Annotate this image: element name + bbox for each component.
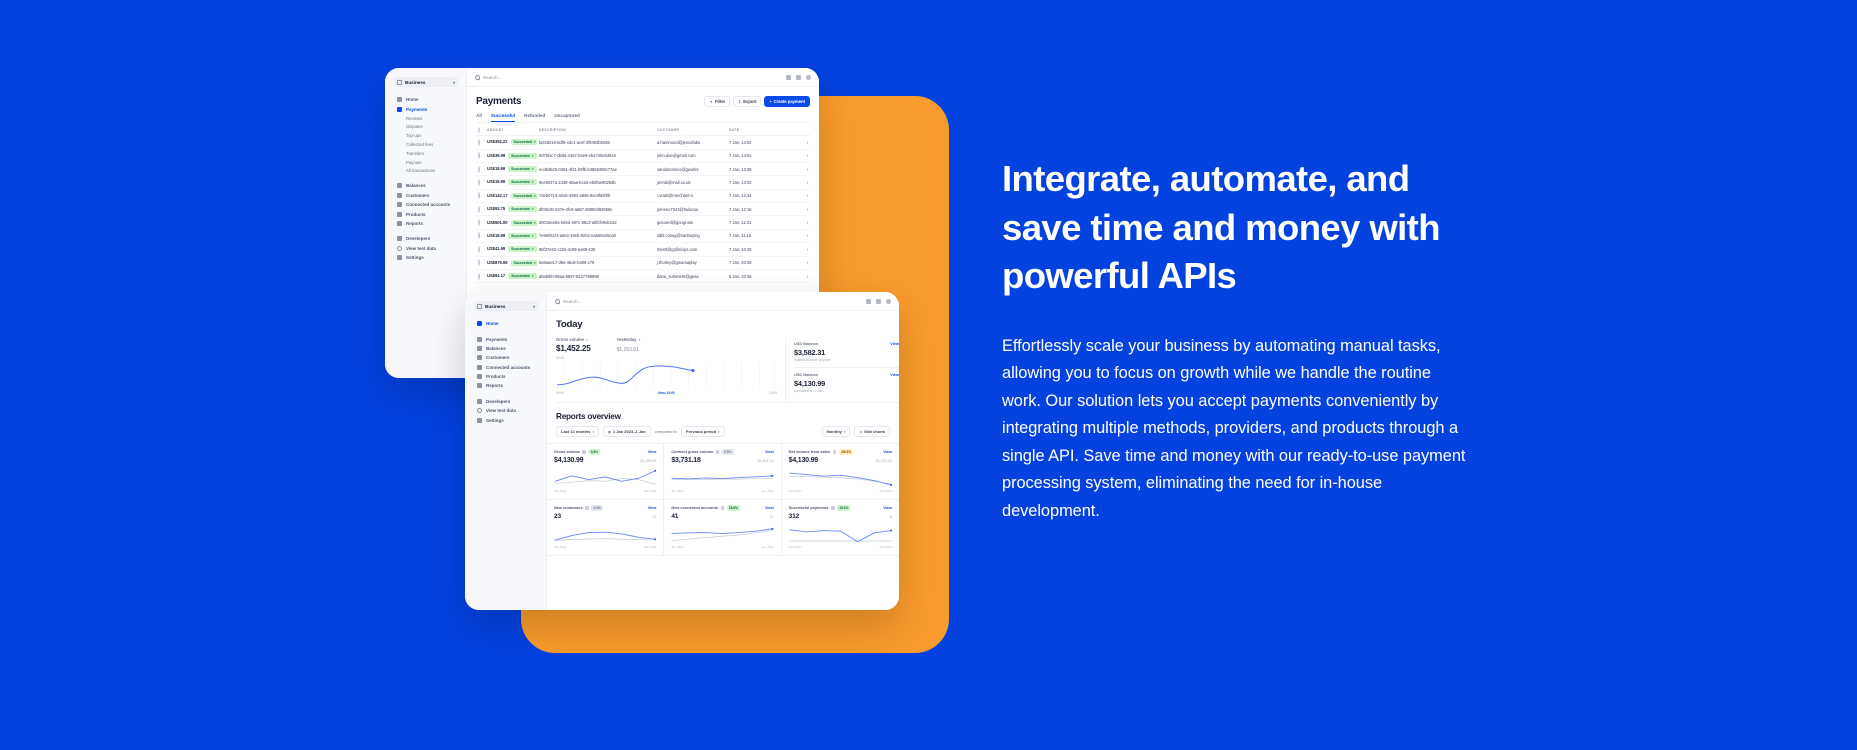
gross-volume-chart [556, 360, 777, 390]
sidebar-item-label: Payments [486, 337, 507, 342]
axis-left-label: Jan 2022 [671, 545, 683, 549]
compare-period-select[interactable]: Previous period ▾ [681, 426, 725, 437]
sidebar-item-label: View test data [486, 408, 516, 413]
chevron-down-icon: ▾ [533, 304, 535, 309]
filter-icon: ▼ [709, 100, 713, 104]
row-chevron-icon[interactable]: › [761, 216, 810, 229]
sidebar-item-balances[interactable]: Balances [394, 181, 458, 190]
cell-date: 7 Jan, 14:01 [727, 149, 761, 162]
cell-description: fa3c8216-5df9-4dc1-acef-2f9463b5256 [537, 136, 655, 149]
cell-date: 7 Jan, 14:04 [727, 136, 761, 149]
sidebar-item-label: Customers [486, 355, 510, 360]
customers-icon [397, 193, 402, 198]
sidebar-item-label: Balances [486, 346, 506, 351]
info-icon[interactable] [721, 506, 725, 510]
status-badge: Succeeded✓ [511, 260, 538, 266]
cell-amount: US$352.22Succeeded✓ [485, 136, 537, 149]
sidebar-item-topups[interactable]: Top-ups [394, 131, 458, 140]
report-card[interactable]: Successful payments19.4%View3128Jan 2022… [782, 500, 899, 556]
account-name: Business [405, 80, 425, 85]
help-icon[interactable] [796, 75, 801, 80]
sidebar-item-label: Payments [406, 107, 427, 112]
row-checkbox-cell[interactable] [476, 203, 485, 216]
report-compare-value: 12 [652, 515, 656, 519]
sidebar-item-connected-accounts[interactable]: Connected accounts [394, 200, 458, 209]
cell-amount: US$19.99Succeeded✓ [485, 176, 537, 189]
table-row[interactable]: US$142.17Succeeded✓73eb0713-a026-4983-a8… [476, 189, 810, 202]
cell-description: d9ab9fn-9baa-8937-8127769898 [537, 269, 655, 282]
status-badge: Succeeded✓ [508, 153, 537, 159]
gross-volume-panel: Gross volume ▾ $1,452.25 Yesterday ▾ [556, 337, 785, 402]
status-badge: Succeeded✓ [511, 220, 538, 226]
cell-description: 7e96051f4-a0e3-49eb-9252-eab59425ca0 [537, 229, 655, 242]
sidebar-item-label: Home [406, 97, 419, 102]
cell-date: 7 Jan, 11:16 [727, 229, 761, 242]
reports-grid: Gross volume3.3%View$4,130.99$1,253.92Ja… [547, 443, 899, 556]
cell-customer: r.vrabi@merchant-s [655, 189, 727, 202]
sidebar-item-label: Settings [406, 255, 424, 260]
row-checkbox-cell[interactable] [476, 176, 485, 189]
row-checkbox-cell[interactable] [476, 149, 485, 162]
cell-date: 7 Jan, 11:31 [727, 216, 761, 229]
status-badge: Succeeded✓ [508, 179, 537, 185]
report-value: 41 [671, 513, 678, 520]
status-badge: Succeeded✓ [511, 193, 538, 199]
cell-customer: j.thorley@gmarsaplay [655, 256, 727, 269]
table-row[interactable]: US$19.99Succeeded✓9ce9027a-2439-40aa-bca… [476, 176, 810, 189]
axis-right-label: Jan 2023 [761, 545, 773, 549]
report-value: $4,130.99 [789, 457, 818, 464]
account-name: Business [485, 304, 505, 309]
axis-right-label: Jan 2023 [644, 489, 656, 493]
info-icon[interactable] [716, 450, 720, 454]
balance-value: $4,130.99 [794, 379, 899, 388]
row-checkbox-cell[interactable] [476, 162, 485, 175]
change-badge: 18.6% [727, 505, 740, 511]
axis-left-label: Jan 2022 [671, 489, 683, 493]
sidebar-item-payments[interactable]: Payments [474, 334, 538, 343]
change-badge: 3.3% [589, 449, 601, 455]
nav-secondary-group: Payments Balances Customers Connected ac… [474, 334, 538, 390]
nav-tertiary-group: Developers View test data Settings [394, 234, 458, 262]
cell-customer: john.doe@gmail.com [655, 149, 727, 162]
cell-description: 5a9aae17-d9a-46de-b308-c78 [537, 256, 655, 269]
topbar-icons [866, 299, 891, 304]
cell-date: 7 Jan, 10:46 [727, 243, 761, 256]
cell-customer: a.hammond@jescofabs [655, 136, 727, 149]
export-icon: ↧ [738, 100, 741, 104]
reports-overview-title: Reports overview [556, 412, 890, 421]
sidebar-item-products[interactable]: Products [394, 209, 458, 218]
marketing-copy: Integrate, automate, and save time and m… [1002, 155, 1472, 526]
chart-axis-bottom: 00:00 Now, 13:00 23:59 [556, 391, 777, 395]
sidebar-item-label: Home [486, 321, 499, 326]
table-row[interactable]: US$501.00Succeeded✓30016eeba-5d4d-487c-8… [476, 216, 810, 229]
axis-left-label: Jan 2022 [789, 545, 801, 549]
page-title: Today [556, 319, 890, 330]
nav-primary-group: Home [474, 319, 538, 328]
info-icon[interactable] [833, 450, 837, 454]
report-compare-value: $1,253.92 [640, 459, 656, 463]
yesterday-value: $1,253.61 [617, 347, 641, 353]
card-icon [397, 107, 402, 112]
checkbox-icon[interactable] [478, 192, 480, 199]
checkbox-icon[interactable] [478, 246, 480, 253]
cell-description: 0d7bfac7-dbda-4157-bae9-eb4740e53815 [537, 149, 655, 162]
cell-customer: sandomenico@gworks [655, 162, 727, 175]
table-row[interactable]: US$19.99Succeeded✓7e96051f4-a0e3-49eb-92… [476, 229, 810, 242]
report-sparkline [671, 523, 773, 544]
account-switcher[interactable]: Business ▾ [474, 301, 538, 311]
sidebar-item-products[interactable]: Products [474, 372, 538, 381]
checkbox-icon[interactable] [478, 127, 480, 133]
reports-icon [477, 383, 482, 388]
row-chevron-icon[interactable]: › [761, 203, 810, 216]
report-sparkline [789, 467, 892, 488]
home-icon [477, 321, 482, 326]
compared-to-label: compared to [655, 429, 677, 434]
search-placeholder: Search... [483, 75, 501, 80]
table-row[interactable]: US$352.22Succeeded✓fa3c8216-5df9-4dc1-ac… [476, 136, 810, 149]
customers-icon [477, 355, 482, 360]
plus-icon: + [769, 100, 771, 104]
sidebar-item-reports[interactable]: Reports [394, 219, 458, 228]
filter-button[interactable]: ▼ Filter [704, 96, 730, 107]
sidebar-item-transfers[interactable]: Transfers [394, 149, 458, 158]
row-checkbox-cell[interactable] [476, 229, 485, 242]
sidebar-item-label: View test data [406, 246, 436, 251]
building-icon [397, 80, 402, 85]
notifications-icon[interactable] [866, 299, 871, 304]
sidebar-item-reviews[interactable]: Reviews [394, 114, 458, 123]
balance-block-deposited: USD Balance View $4,130.99 Deposited on … [794, 367, 899, 398]
sidebar-item-label: Connected accounts [486, 365, 530, 370]
sidebar-item-disputes[interactable]: Disputes [394, 123, 458, 132]
view-link[interactable]: View [890, 372, 899, 377]
row-checkbox-cell[interactable] [476, 256, 485, 269]
avatar[interactable] [886, 299, 891, 304]
row-chevron-icon[interactable]: › [761, 243, 810, 256]
report-card[interactable]: New connected accounts18.6%View4127Jan 2… [664, 500, 781, 556]
gear-icon [477, 418, 482, 423]
report-value: $4,130.99 [554, 457, 583, 464]
cell-amount: US$41.99Succeeded✓ [485, 243, 537, 256]
axis-now-label: Now, 13:00 [658, 391, 675, 395]
report-value: 23 [554, 513, 561, 520]
today-dashboard-card: Business ▾ Home Payments [465, 292, 899, 610]
axis-right-label: Jan 2023 [644, 545, 656, 549]
report-card[interactable]: Gross volume3.3%View$4,130.99$1,253.92Ja… [547, 444, 664, 500]
column-description: DESCRIPTION [537, 124, 655, 135]
balance-value: $3,582.31 [794, 348, 899, 357]
tab-all[interactable]: All [476, 113, 482, 122]
calendar-icon: ▦ [608, 430, 611, 434]
cell-date: 7 Jan, 12:16 [727, 203, 761, 216]
cell-description: df03e3b-027e-4fc9-a587-30950d82868e [537, 203, 655, 216]
report-card[interactable]: Connect gross volume0.0%View$3,731.18$3,… [664, 444, 781, 500]
payments-table: AMOUNT DESCRIPTION CUSTOMER DATE US$352.… [476, 124, 810, 283]
cell-amount: US$19.99Succeeded✓ [485, 162, 537, 175]
sidebar-item-home[interactable]: Home [474, 319, 538, 328]
row-chevron-icon[interactable]: › [761, 149, 810, 162]
view-link[interactable]: View [648, 506, 657, 510]
column-date: DATE [727, 124, 761, 135]
row-checkbox-cell[interactable] [476, 216, 485, 229]
sidebar-item-label: Reports [486, 383, 503, 388]
row-checkbox-cell[interactable] [476, 243, 485, 256]
search-input[interactable]: Search... [555, 299, 581, 304]
cell-description: 88f37e53-c2b2-4c09-aa89-438 [537, 243, 655, 256]
sidebar-item-payments[interactable]: Payments [394, 104, 458, 113]
sidebar-item-label: Reports [406, 221, 423, 226]
axis-right-label: Jan 2023 [880, 545, 892, 549]
balance-icon [397, 183, 402, 188]
info-icon[interactable] [582, 450, 586, 454]
cell-amount: US$879.98Succeeded✓ [485, 256, 537, 269]
sidebar-item-view-test-data[interactable]: View test data [394, 243, 458, 252]
report-sparkline [789, 523, 892, 544]
sidebar-item-customers[interactable]: Customers [394, 191, 458, 200]
row-chevron-icon[interactable]: › [761, 176, 810, 189]
row-chevron-icon[interactable]: › [761, 256, 810, 269]
sidebar-item-label: Connected accounts [406, 202, 450, 207]
cell-description: ecd64b25-0304-4f31-b9fb-b4859468c77ae [537, 162, 655, 175]
checkbox-icon[interactable] [478, 219, 480, 226]
search-input[interactable]: Search... [475, 75, 501, 80]
row-checkbox-cell[interactable] [476, 269, 485, 282]
sidebar-item-balances[interactable]: Balances [474, 344, 538, 353]
products-icon [397, 212, 402, 217]
checkbox-icon[interactable] [478, 166, 480, 173]
sidebar-item-settings[interactable]: Settings [394, 253, 458, 262]
date-range-select[interactable]: Last 12 months ▾ [556, 426, 599, 437]
row-chevron-icon[interactable]: › [761, 269, 810, 282]
table-row[interactable]: US$39.99Succeeded✓0d7bfac7-dbda-4157-bae… [476, 149, 810, 162]
today-topbar: Search... [547, 292, 899, 311]
nav-secondary-group: Balances Customers Connected accounts Pr… [394, 181, 458, 228]
today-sidebar: Business ▾ Home Payments [465, 292, 547, 610]
axis-left-label: Jan 2022 [554, 545, 566, 549]
cell-amount: US$142.17Succeeded✓ [485, 189, 537, 202]
change-badge: 0.0% [722, 449, 734, 455]
balance-label: USD Balance [794, 372, 818, 377]
report-sparkline [554, 467, 656, 488]
cell-customer: sdkl.conug@rianbuying [655, 229, 727, 242]
sidebar-item-label: Developers [406, 236, 430, 241]
yesterday-label[interactable]: Yesterday ▾ [617, 337, 641, 342]
tab-refunded[interactable]: Refunded [524, 113, 545, 122]
sidebar-item-home[interactable]: Home [394, 95, 458, 104]
sidebar-item-payouts[interactable]: Payouts [394, 158, 458, 167]
chevron-down-icon: ▾ [844, 430, 846, 434]
interval-select[interactable]: Monthly ▾ [822, 426, 851, 437]
sidebar-item-view-test-data[interactable]: View test data [474, 406, 538, 415]
table-row[interactable]: US$19.99Succeeded✓ecd64b25-0304-4f31-b9f… [476, 162, 810, 175]
sidebar-item-collected-fees[interactable]: Collected fees [394, 140, 458, 149]
report-sparkline [554, 523, 656, 544]
chevron-down-icon: ▾ [638, 338, 640, 342]
info-icon[interactable] [831, 506, 835, 510]
report-card[interactable]: New customers0.0%View2312Jan 2022Jan 202… [547, 500, 664, 556]
checkbox-icon[interactable] [478, 273, 480, 280]
connected-icon [477, 365, 482, 370]
cell-date: 7 Jan, 20:36 [727, 256, 761, 269]
chevron-down-icon: ▾ [586, 338, 588, 342]
cell-description: 9ce9027a-2439-40aa-bca3-eb9fae9829db [537, 176, 655, 189]
cell-customer: dana_summer5@gesa [655, 269, 727, 282]
report-card[interactable]: Net volume from sales-60.3%View$4,130.99… [782, 444, 899, 500]
table-row[interactable]: US$41.99Succeeded✓88f37e53-c2b2-4c09-aa8… [476, 243, 810, 256]
balance-sub: Estimated future payouts [794, 358, 899, 362]
table-row[interactable]: US$91.17Succeeded✓d9ab9fn-9baa-8937-8127… [476, 269, 810, 282]
row-chevron-icon[interactable]: › [761, 162, 810, 175]
search-placeholder: Search... [563, 299, 581, 304]
cell-amount: US$39.99Succeeded✓ [485, 149, 537, 162]
view-link[interactable]: View [765, 450, 774, 454]
row-chevron-icon[interactable]: › [761, 189, 810, 202]
column-customer: CUSTOMER [655, 124, 727, 135]
status-badge: Succeeded✓ [508, 166, 537, 172]
developers-icon [397, 236, 402, 241]
tab-uncaptured[interactable]: Uncaptured [554, 113, 580, 122]
page-body-text: Effortlessly scale your business by auto… [1002, 333, 1472, 526]
sidebar-item-connected-accounts[interactable]: Connected accounts [474, 363, 538, 372]
checkbox-icon[interactable] [478, 259, 480, 266]
export-button[interactable]: ↧ Export [733, 96, 761, 107]
cell-date: 5 Jan, 20:36 [727, 269, 761, 282]
gear-icon [397, 255, 402, 260]
view-link[interactable]: View [883, 506, 892, 510]
sidebar-item-label: Balances [406, 183, 426, 188]
products-icon [477, 374, 482, 379]
payments-sidebar: Business ▾ Home Payments Reviews Dispute… [385, 68, 467, 378]
tab-successful[interactable]: Successful [491, 113, 515, 122]
cell-amount: US$91.17Succeeded✓ [485, 269, 537, 282]
payments-topbar: Search... [467, 68, 819, 87]
create-payment-button[interactable]: + Create payment [764, 96, 810, 107]
view-link[interactable]: View [890, 341, 899, 346]
help-icon[interactable] [876, 299, 881, 304]
filter-label: Filter [715, 99, 725, 104]
table-row[interactable]: US$879.98Succeeded✓5a9aae17-d9a-46de-b30… [476, 256, 810, 269]
sidebar-item-label: Developers [486, 399, 510, 404]
report-value: $3,731.18 [671, 457, 700, 464]
axis-right-label: 23:59 [769, 391, 777, 395]
info-icon[interactable] [585, 506, 589, 510]
notifications-icon[interactable] [786, 75, 791, 80]
page-title: Payments [476, 96, 521, 107]
cell-date: 7 Jan, 13:02 [727, 176, 761, 189]
balance-sub: Deposited on 1 Jan [794, 389, 899, 393]
report-compare-value: 8 [890, 515, 892, 519]
toggle-icon [397, 246, 402, 251]
sidebar-item-label: Settings [486, 418, 504, 423]
row-checkbox-cell[interactable] [476, 136, 485, 149]
report-sparkline [671, 467, 773, 488]
axis-right-label: Jan 2023 [880, 489, 892, 493]
checkbox-icon[interactable] [478, 179, 480, 186]
account-switcher[interactable]: Business ▾ [394, 77, 458, 87]
toggle-icon [477, 408, 482, 413]
table-header-row: AMOUNT DESCRIPTION CUSTOMER DATE [476, 124, 810, 135]
sidebar-item-label: Products [486, 374, 506, 379]
select-all-checkbox-cell[interactable] [476, 124, 485, 135]
payments-tabs: All Successful Refunded Uncaptured [476, 113, 810, 123]
sidebar-item-all-transactions[interactable]: All transactions [394, 166, 458, 175]
checkbox-icon[interactable] [478, 152, 480, 159]
search-icon [555, 299, 560, 304]
status-badge: Succeeded✓ [508, 246, 537, 252]
building-icon [477, 304, 482, 309]
change-badge: 0.0% [591, 505, 603, 511]
sidebar-item-customers[interactable]: Customers [474, 353, 538, 362]
table-row[interactable]: US$93.75Succeeded✓df03e3b-027e-4fc9-a587… [476, 203, 810, 216]
date-picker[interactable]: ▦ 1 Jan 2023–1 Jan [603, 426, 651, 437]
report-compare-value: 27 [770, 515, 774, 519]
sidebar-item-settings[interactable]: Settings [474, 415, 538, 424]
reports-icon [397, 221, 402, 226]
cell-customer: gesoerd@googl.win [655, 216, 727, 229]
gear-icon: ⚙ [859, 430, 862, 434]
checkbox-icon[interactable] [478, 139, 480, 146]
status-badge: Succeeded✓ [508, 206, 537, 212]
chevron-down-icon: ▾ [592, 430, 594, 434]
view-link[interactable]: View [765, 506, 774, 510]
page-headline: Integrate, automate, and save time and m… [1002, 155, 1472, 301]
gross-volume-label[interactable]: Gross volume ▾ [556, 337, 591, 342]
status-badge: Succeeded✓ [508, 233, 537, 239]
nav-tertiary-group: Developers View test data Settings [474, 397, 538, 425]
axis-left-label: Jan 2022 [789, 489, 801, 493]
report-compare-value: $1,253.92 [876, 459, 892, 463]
edit-charts-button[interactable]: ⚙ Edit charts [854, 426, 890, 437]
change-badge: 19.4% [837, 505, 850, 511]
change-badge: -60.3% [839, 449, 853, 455]
export-label: Export [743, 99, 756, 104]
sidebar-item-label: Products [406, 212, 426, 217]
checkbox-icon[interactable] [478, 232, 480, 239]
sidebar-item-developers[interactable]: Developers [394, 234, 458, 243]
avatar[interactable] [806, 75, 811, 80]
axis-right-label: Jan 2023 [761, 489, 773, 493]
cell-description: 30016eeba-5d4d-487c-85c3-a8fcfe9de152 [537, 216, 655, 229]
create-payment-label: Create payment [774, 99, 805, 104]
hero-visual: Business ▾ Home Payments Reviews Dispute… [0, 0, 960, 750]
connected-icon [397, 202, 402, 207]
cell-amount: US$501.00Succeeded✓ [485, 216, 537, 229]
checkbox-icon[interactable] [478, 206, 480, 213]
sidebar-item-developers[interactable]: Developers [474, 397, 538, 406]
report-compare-value: $3,801.14 [758, 459, 774, 463]
view-link[interactable]: View [648, 450, 657, 454]
chevron-down-icon: ▾ [718, 430, 720, 434]
card-icon [477, 337, 482, 342]
home-icon [397, 97, 402, 102]
axis-left-label: 00:00 [556, 391, 564, 395]
row-checkbox-cell[interactable] [476, 189, 485, 202]
cell-customer: pimeno7043@hulocau [655, 203, 727, 216]
row-chevron-icon[interactable]: › [761, 229, 810, 242]
view-link[interactable]: View [883, 450, 892, 454]
chevron-down-icon: ▾ [453, 80, 455, 85]
sidebar-item-reports[interactable]: Reports [474, 381, 538, 390]
row-chevron-icon[interactable]: › [761, 136, 810, 149]
cell-amount: US$93.75Succeeded✓ [485, 203, 537, 216]
status-badge: Succeeded✓ [508, 273, 537, 279]
sidebar-item-label: Customers [406, 193, 430, 198]
cell-customer: rbentl@gofinicips.com [655, 243, 727, 256]
nav-primary-group: Home Payments Reviews Disputes Top-ups C… [394, 95, 458, 175]
